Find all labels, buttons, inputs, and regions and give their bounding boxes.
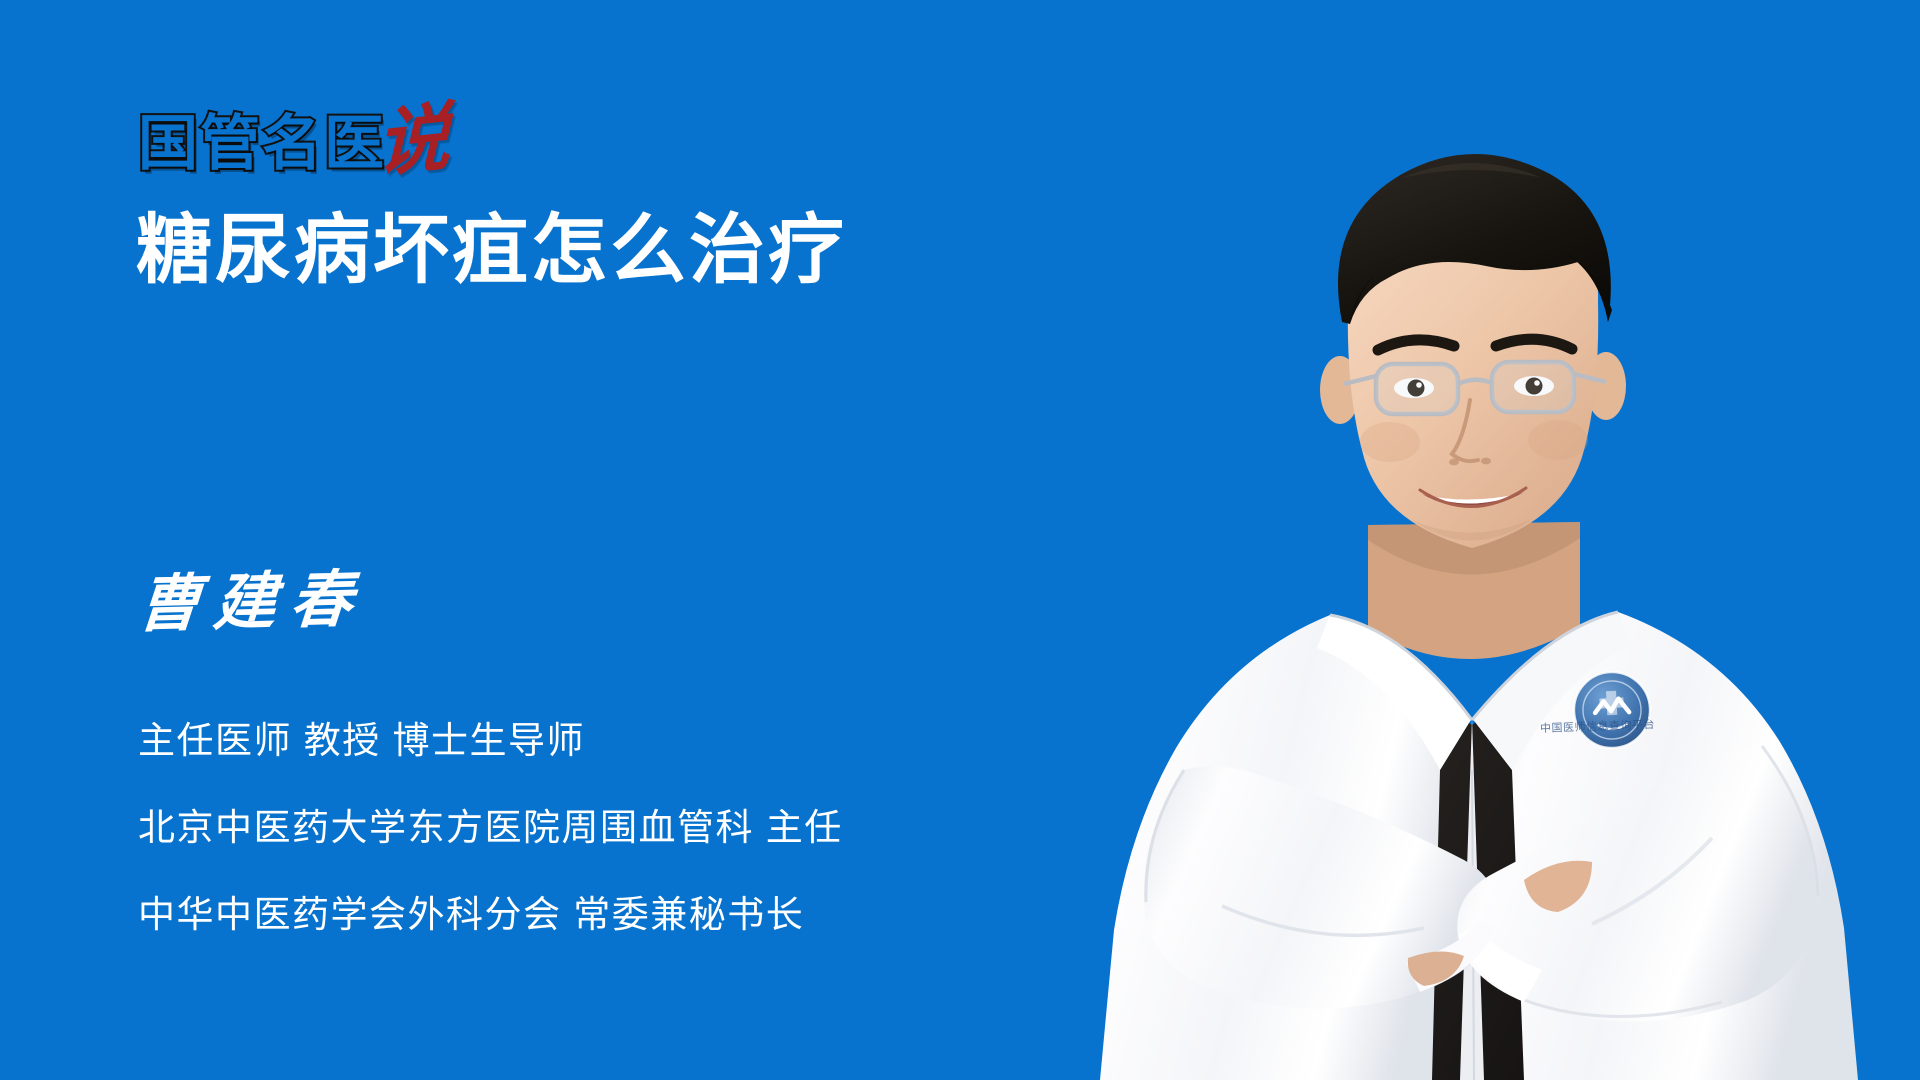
page-title: 糖尿病坏疽怎么治疗	[136, 205, 847, 298]
credential-line: 主任医师 教授 博士生导师	[138, 722, 1058, 759]
brand-logo: 国管名医 说	[138, 96, 450, 174]
brand-logo-main-text: 国管名医	[138, 114, 386, 174]
credential-line: 北京中医药大学东方医院周围血管科 主任	[138, 809, 1058, 846]
brand-logo-accent-text: 说	[376, 106, 450, 178]
text-column: 国管名医 说 糖尿病坏疽怎么治疗 曹建春 主任医师 教授 博士生导师 北京中医药…	[0, 0, 1120, 1080]
doctor-name: 曹建春	[135, 565, 369, 639]
doctor-credentials: 主任医师 教授 博士生导师 北京中医药大学东方医院周围血管科 主任 中华中医药学…	[138, 722, 1058, 933]
credential-line: 中华中医药学会外科分会 常委兼秘书长	[138, 896, 1058, 933]
poster-root: 国管名医 说 糖尿病坏疽怎么治疗 曹建春 主任医师 教授 博士生导师 北京中医药…	[0, 0, 1920, 1080]
doctor-photo	[1072, 70, 1872, 1080]
